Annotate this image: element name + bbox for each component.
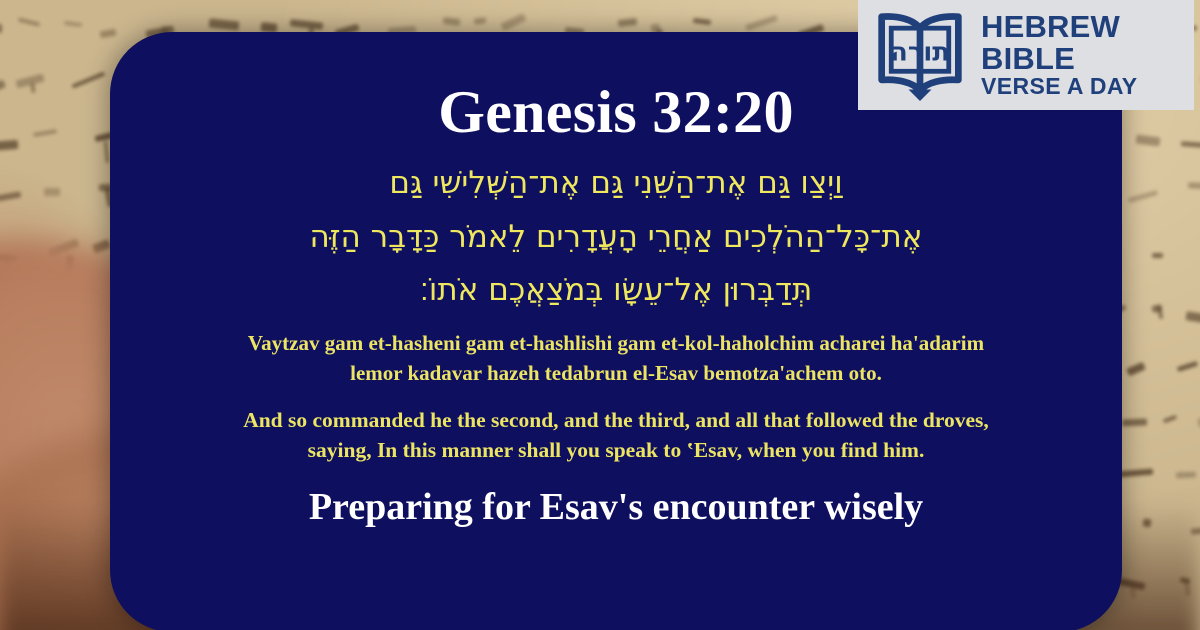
hebrew-verse-text: וַיְצַו גַּם אֶת־הַשֵּׁנִי גַּם אֶת־הַשְ… bbox=[176, 157, 1056, 317]
torah-hebrew-glyphs: תורה bbox=[890, 38, 950, 68]
translation-text: And so commanded he the second, and the … bbox=[226, 405, 1006, 466]
transliteration-text: Vaytzav gam et-hasheni gam et-hashlishi … bbox=[236, 329, 996, 388]
page-title: Genesis 32:20 bbox=[438, 82, 794, 143]
brand-logo[interactable]: תורה HEBREW BIBLE VERSE A DAY bbox=[858, 0, 1194, 110]
brand-line-hebrew: HEBREW bbox=[981, 11, 1138, 43]
hebrew-line-1: וַיְצַו גַּם אֶת־הַשֵּׁנִי גַּם אֶת־הַשְ… bbox=[176, 157, 1056, 210]
brand-line-bible: BIBLE bbox=[981, 43, 1138, 75]
verse-card: Genesis 32:20 וַיְצַו גַּם אֶת־הַשֵּׁנִי… bbox=[110, 32, 1122, 630]
brand-line-verse-a-day: VERSE A DAY bbox=[981, 75, 1138, 99]
brand-logo-text: HEBREW BIBLE VERSE A DAY bbox=[981, 11, 1138, 99]
verse-card-content: Genesis 32:20 וַיְצַו גַּם אֶת־הַשֵּׁנִי… bbox=[110, 32, 1122, 630]
hebrew-line-2: אֶת־כָּל־הַהֹלְכִים אַחֲרֵי הָעֲדָרִים ל… bbox=[176, 211, 1056, 264]
caption-text: Preparing for Esav's encounter wisely bbox=[309, 488, 923, 528]
hebrew-line-3: תְּדַבְּרוּן אֶל־עֵשָׂו בְּמֹצַאֲכֶם אֹת… bbox=[176, 264, 1056, 317]
open-book-torah-icon: תורה bbox=[872, 9, 968, 101]
verse-image-canvas: Genesis 32:20 וַיְצַו גַּם אֶת־הַשֵּׁנִי… bbox=[0, 0, 1200, 630]
